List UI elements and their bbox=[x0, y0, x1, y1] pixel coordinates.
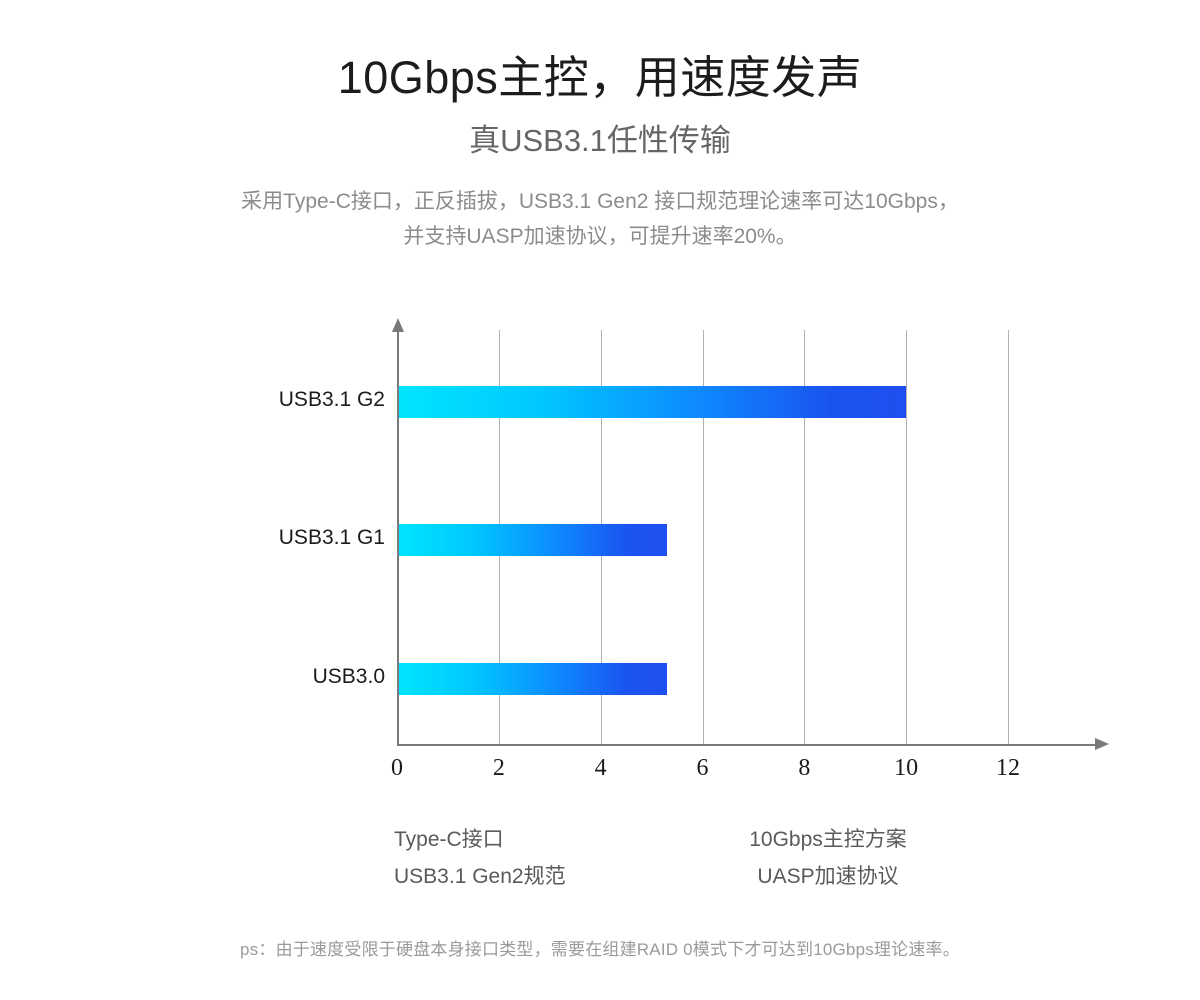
chart-x-tick-label: 8 bbox=[774, 755, 834, 782]
chart-x-tick-label: 12 bbox=[978, 755, 1038, 782]
chart-x-tick-label: 6 bbox=[673, 755, 733, 782]
hero-description-line-1: 采用Type-C接口，正反插拔，USB3.1 Gen2 接口规范理论速率可达10… bbox=[150, 185, 1050, 220]
chart-gridline bbox=[1008, 330, 1009, 745]
hero-section: 10Gbps主控，用速度发声 真USB3.1任性传输 采用Type-C接口，正反… bbox=[0, 0, 1200, 254]
chart-x-tick-label: 0 bbox=[367, 755, 427, 782]
chart-bar bbox=[397, 386, 906, 418]
chart-gridline bbox=[906, 330, 907, 745]
chart-x-tick-label: 2 bbox=[469, 755, 529, 782]
chart-category-label: USB3.1 G1 bbox=[125, 526, 385, 550]
chart-category-label: USB3.1 G2 bbox=[125, 388, 385, 412]
chart-bar bbox=[397, 663, 667, 695]
chart-category-labels: USB3.1 G2USB3.1 G1USB3.0 bbox=[115, 330, 385, 745]
feature-list: Type-C接口 USB3.1 Gen2规范 10Gbps主控方案 UASP加速… bbox=[0, 822, 1200, 902]
chart-x-tick-label: 4 bbox=[571, 755, 631, 782]
chart-x-axis bbox=[397, 744, 1097, 746]
feature-column-left: Type-C接口 USB3.1 Gen2规范 bbox=[394, 822, 566, 896]
feature-item: 10Gbps主控方案 bbox=[738, 822, 918, 859]
feature-item: UASP加速协议 bbox=[738, 859, 918, 896]
chart-category-label: USB3.0 bbox=[125, 665, 385, 689]
speed-comparison-chart: USB3.1 G2USB3.1 G1USB3.0 024681012 bbox=[0, 300, 1200, 820]
feature-item: Type-C接口 bbox=[394, 822, 566, 859]
chart-x-axis-arrow-icon bbox=[1095, 738, 1109, 750]
feature-column-right: 10Gbps主控方案 UASP加速协议 bbox=[738, 822, 918, 896]
hero-description-line-2: 并支持UASP加速协议，可提升速率20%。 bbox=[150, 220, 1050, 255]
chart-y-axis bbox=[397, 330, 399, 745]
chart-bar bbox=[397, 524, 667, 556]
page-subtitle: 真USB3.1任性传输 bbox=[0, 104, 1200, 159]
footnote: ps：由于速度受限于硬盘本身接口类型，需要在组建RAID 0模式下才可达到10G… bbox=[0, 935, 1200, 960]
feature-item: USB3.1 Gen2规范 bbox=[394, 859, 566, 896]
chart-plot-area bbox=[397, 330, 1008, 745]
chart-y-axis-arrow-icon bbox=[392, 318, 404, 332]
hero-description: 采用Type-C接口，正反插拔，USB3.1 Gen2 接口规范理论速率可达10… bbox=[150, 159, 1050, 254]
chart-x-tick-label: 10 bbox=[876, 755, 936, 782]
page-title: 10Gbps主控，用速度发声 bbox=[0, 0, 1200, 104]
